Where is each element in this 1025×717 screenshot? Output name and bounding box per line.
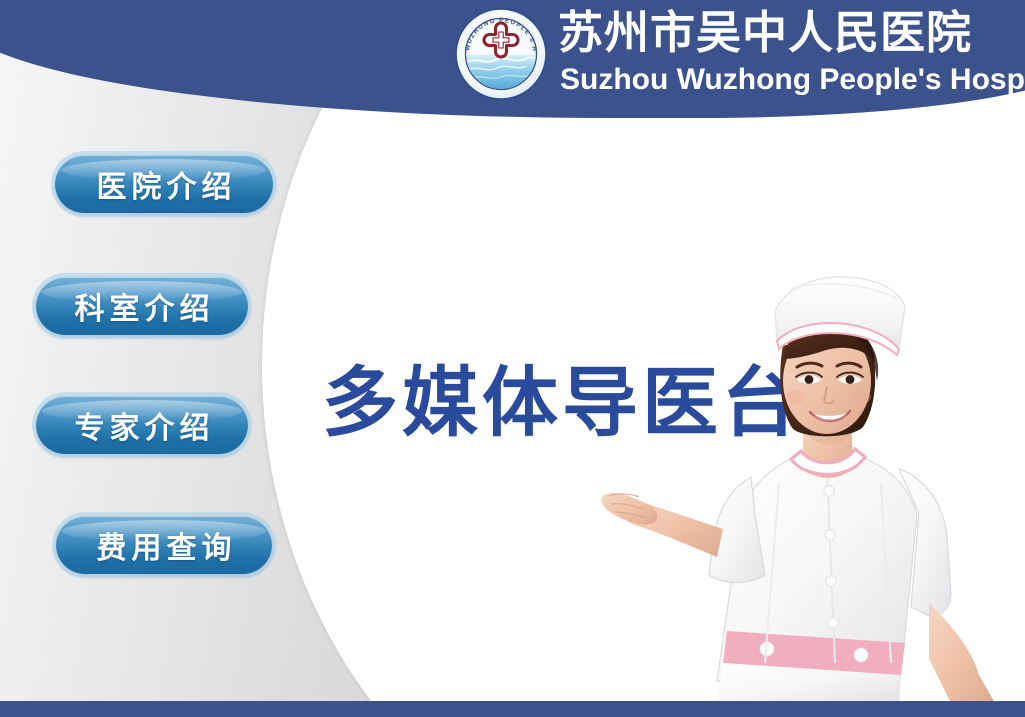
nurse-illustration bbox=[599, 263, 1025, 703]
hospital-name-cn: 苏州市吴中人民医院 bbox=[558, 6, 972, 60]
sidebar-item-label: 费用查询 bbox=[92, 523, 237, 567]
sidebar-item-label: 专家介绍 bbox=[70, 403, 215, 447]
header-bar: SUZHOU WUZHONG PEOPLE'S HOSPITAL 苏州市吴中人民… bbox=[0, 0, 1025, 118]
sidebar-item-label: 科室介绍 bbox=[70, 284, 215, 328]
sidebar-item-expert-intro[interactable]: 专家介绍 bbox=[36, 396, 248, 454]
sidebar-item-hospital-intro[interactable]: 医院介绍 bbox=[55, 155, 273, 213]
sidebar-item-department-intro[interactable]: 科室介绍 bbox=[36, 277, 248, 335]
hospital-name-en: Suzhou Wuzhong People's Hospital bbox=[560, 62, 1025, 98]
sidebar-item-label: 医院介绍 bbox=[92, 162, 237, 206]
header-content: SUZHOU WUZHONG PEOPLE'S HOSPITAL 苏州市吴中人民… bbox=[0, 0, 1025, 118]
sidebar-item-fee-inquiry[interactable]: 费用查询 bbox=[56, 516, 272, 574]
kiosk-screen: 多媒体导医台 bbox=[0, 0, 1025, 717]
footer-bar bbox=[0, 701, 1025, 717]
hospital-logo-icon: SUZHOU WUZHONG PEOPLE'S HOSPITAL 苏州市吴中人民… bbox=[455, 8, 547, 100]
